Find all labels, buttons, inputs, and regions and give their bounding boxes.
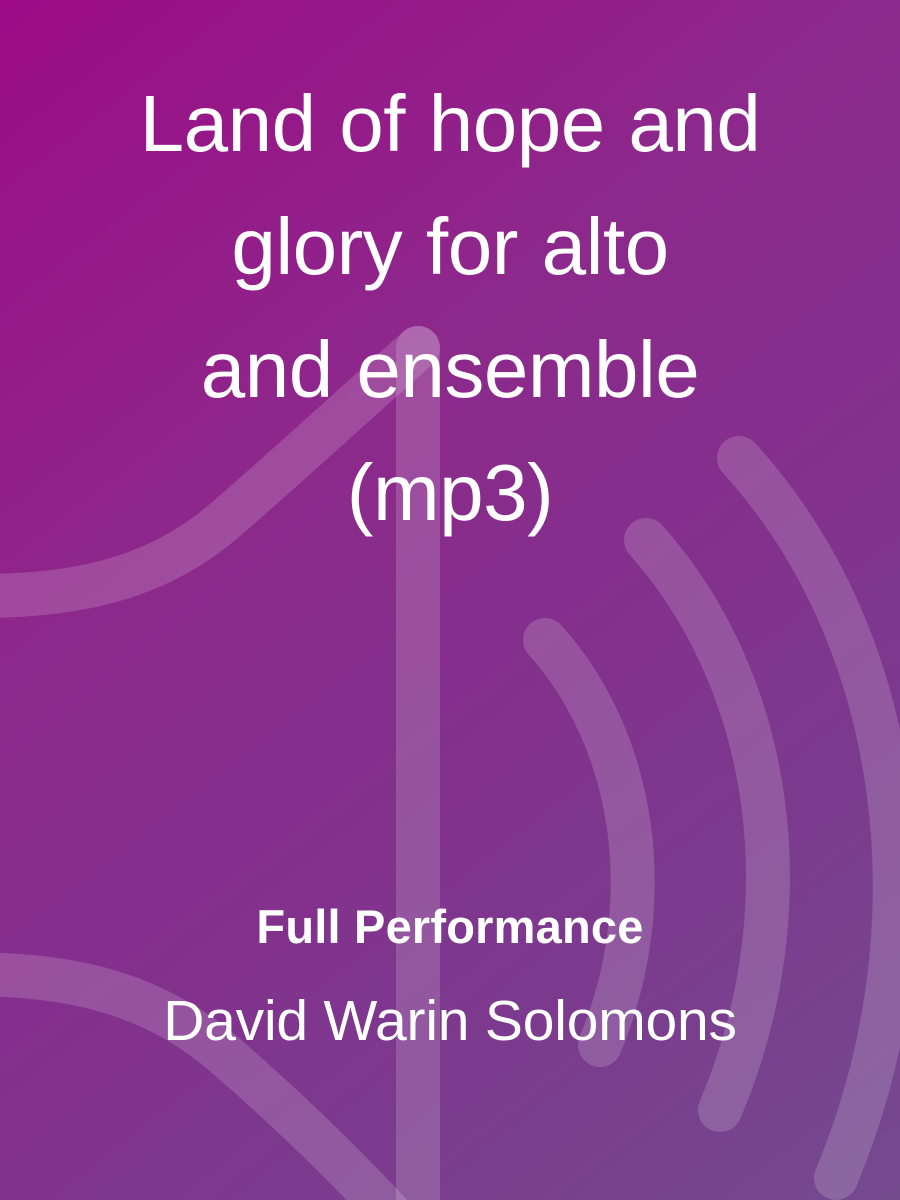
album-cover: Land of hope and glory for alto and ense… — [0, 0, 900, 1200]
composer-name: David Warin Solomons — [0, 990, 900, 1052]
cover-text-layer: Land of hope and glory for alto and ense… — [0, 0, 900, 1200]
page-title: Land of hope and glory for alto and ense… — [70, 62, 830, 554]
performance-type-label: Full Performance — [0, 898, 900, 956]
cover-footer: Full Performance David Warin Solomons — [0, 898, 900, 1052]
